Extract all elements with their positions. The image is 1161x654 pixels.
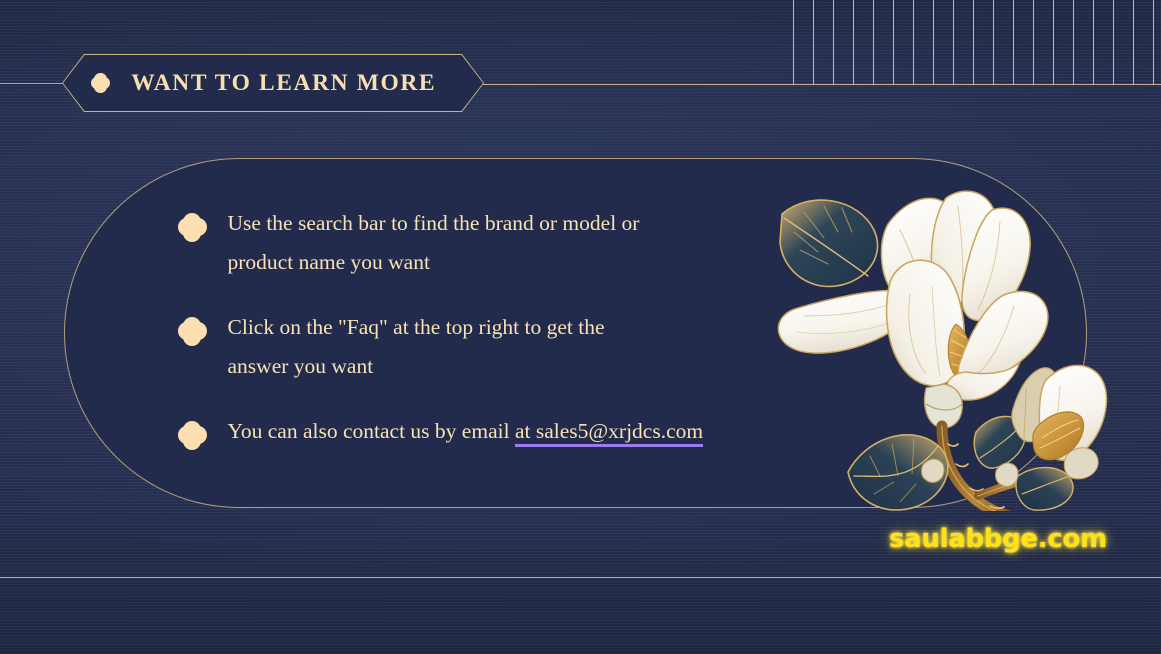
watermark: saulabbge.com — [889, 524, 1107, 554]
instruction-list: Use the search bar to find the brand or … — [178, 204, 798, 451]
slide-canvas: WANT TO LEARN MORE — [0, 0, 1161, 654]
header-banner: WANT TO LEARN MORE — [62, 54, 484, 112]
quatrefoil-icon — [178, 317, 207, 346]
list-item-line1: Click on the "Faq" at the top right to g… — [228, 315, 605, 339]
list-item-text: You can also contact us by email at sale… — [228, 412, 704, 451]
list-item: Click on the "Faq" at the top right to g… — [178, 308, 798, 386]
quatrefoil-icon — [178, 213, 207, 242]
top-horizontal-rule — [470, 84, 1161, 85]
list-item-line2: product name you want — [228, 250, 430, 274]
list-item-line2: answer you want — [228, 354, 374, 378]
quatrefoil-icon — [91, 73, 110, 92]
page-title: WANT TO LEARN MORE — [131, 70, 436, 97]
email-link[interactable]: at sales5@xrjdcs.com — [515, 419, 703, 447]
list-item: You can also contact us by email at sale… — [178, 412, 798, 451]
bottom-horizontal-rule — [0, 577, 1161, 578]
list-item-text: Use the search bar to find the brand or … — [228, 204, 640, 282]
list-item: Use the search bar to find the brand or … — [178, 204, 798, 282]
quatrefoil-icon — [178, 421, 207, 450]
vertical-line-grid-decoration — [793, 0, 1161, 85]
list-item-text: Click on the "Faq" at the top right to g… — [228, 308, 605, 386]
contact-text: You can also contact us by email — [228, 419, 515, 443]
list-item-line1: Use the search bar to find the brand or … — [228, 211, 640, 235]
